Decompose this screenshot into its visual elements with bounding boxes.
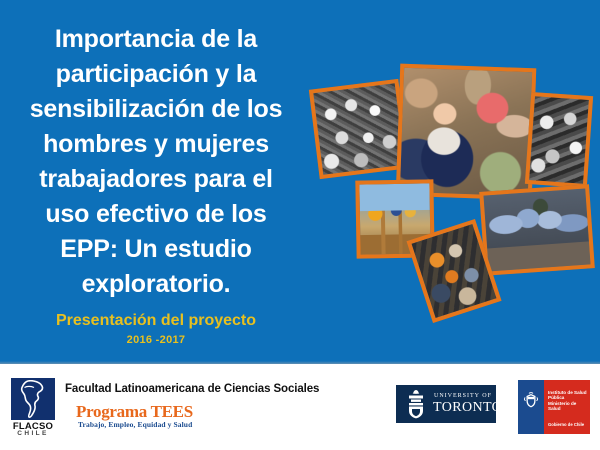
presentation-slide: Importancia de la participación y la sen… xyxy=(0,0,600,450)
photo-lab-protective-suits-image xyxy=(483,189,590,272)
latin-america-map-icon xyxy=(20,380,46,418)
isp-chile-ministry-line: Ministerio de Salud xyxy=(548,401,588,412)
title-line-1: Importancia de la xyxy=(8,22,304,57)
title-line-2: participación y la xyxy=(8,57,304,92)
isp-chile-institute-line: Instituto de Salud Pública xyxy=(548,390,588,401)
subtitle-text: Presentación del proyecto xyxy=(8,310,304,332)
photo-lab-protective-suits xyxy=(479,184,595,275)
programa-tees-tagline: Trabajo, Empleo, Equidad y Salud xyxy=(78,420,192,429)
photo-bw-workers-crowd xyxy=(309,79,409,179)
slide-title: Importancia de la participación y la sen… xyxy=(8,22,304,302)
title-line-7: EPP: Un estudio xyxy=(8,232,304,267)
flacso-logo-country: CHILE xyxy=(8,430,58,437)
photo-bw-factory-women xyxy=(525,92,593,188)
slide-hero-panel: Importancia de la participación y la sen… xyxy=(0,0,600,364)
university-of-toronto-logo: UNIVERSITY OF TORONTO xyxy=(396,385,496,423)
isp-chile-logo: Instituto de Salud Pública Ministerio de… xyxy=(518,380,590,434)
subtitle-years: 2016 -2017 xyxy=(8,332,304,348)
photo-bw-workers-crowd-image xyxy=(313,83,404,174)
uoft-university-label: UNIVERSITY OF xyxy=(434,393,492,399)
isp-chile-government-text: Gobierno de Chile xyxy=(548,422,588,427)
photo-garment-factory-image xyxy=(400,68,532,196)
title-line-4: hombres y mujeres xyxy=(8,127,304,162)
title-line-5: trabajadores para el xyxy=(8,162,304,197)
flacso-logo: FLACSO CHILE xyxy=(8,378,60,440)
slide-footer: FLACSO CHILE Facultad Latinoamericana de… xyxy=(0,364,600,450)
faculty-name-text: Facultad Latinoamericana de Ciencias Soc… xyxy=(65,383,319,395)
uoft-toronto-label: TORONTO xyxy=(433,400,502,416)
title-line-6: uso efectivo de los xyxy=(8,197,304,232)
uoft-crest-icon xyxy=(405,389,427,419)
chile-coat-of-arms-icon xyxy=(523,392,539,409)
flacso-logo-mark xyxy=(11,378,55,420)
title-line-3: sensibilización de los xyxy=(8,92,304,127)
title-line-8: exploratorio. xyxy=(8,267,304,302)
photo-collage xyxy=(300,50,600,350)
programa-tees-title: Programa TEES xyxy=(76,402,193,422)
photo-bw-factory-women-image xyxy=(529,96,589,184)
isp-chile-institute-text: Instituto de Salud Pública Ministerio de… xyxy=(548,390,588,412)
slide-subtitle: Presentación del proyecto 2016 -2017 xyxy=(8,310,304,348)
